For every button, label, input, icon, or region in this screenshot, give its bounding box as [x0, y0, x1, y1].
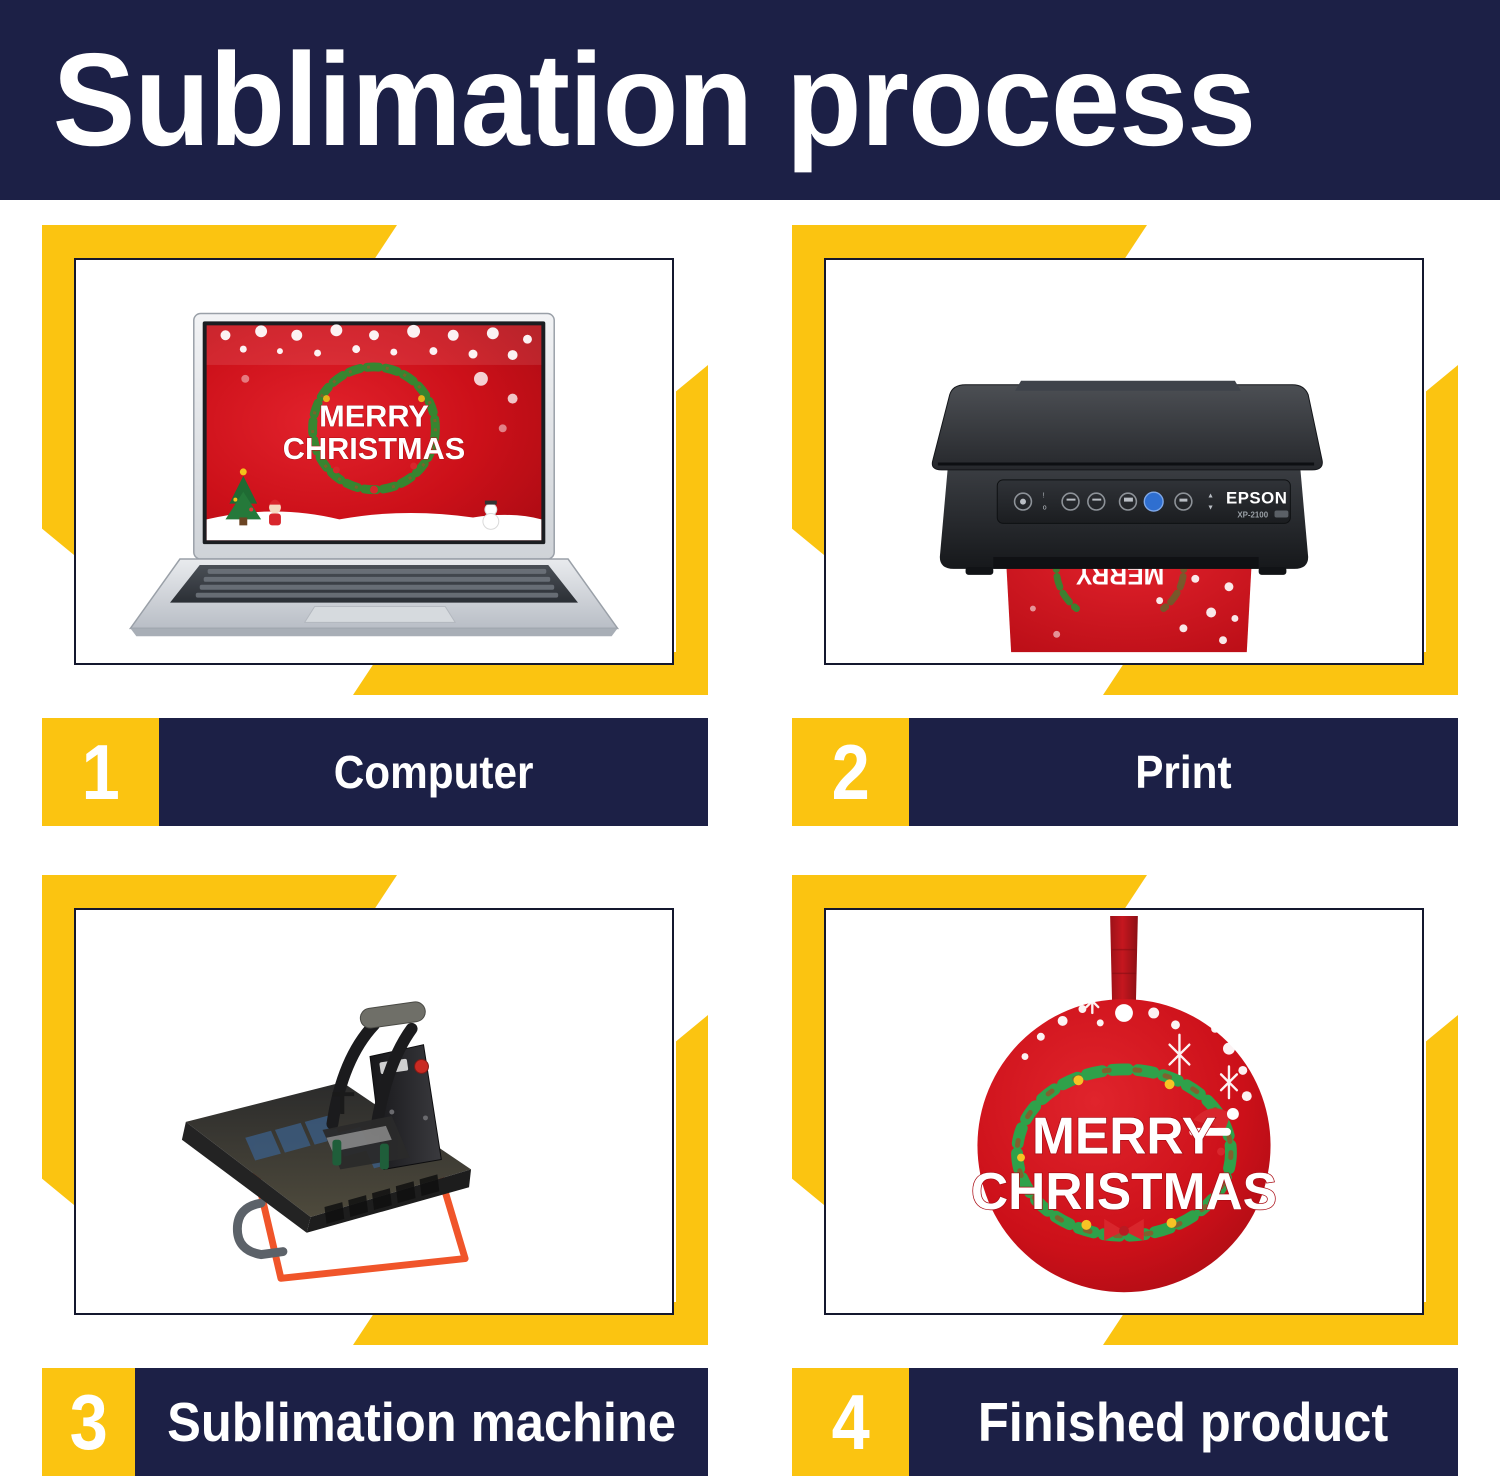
step-number-badge-1: 1 — [42, 718, 159, 826]
step-label-4: Finished product — [909, 1368, 1458, 1476]
corner-accent-top-left-vertical — [792, 875, 824, 1205]
photo-frame-1: MERRY CHRISTMAS — [42, 225, 708, 695]
photo-frame-4: MERRY CHRISTMAS — [792, 875, 1458, 1345]
step-number-badge-2: 2 — [792, 718, 909, 826]
corner-accent-top-left-vertical — [42, 875, 74, 1205]
step-image-printer: MERRY CHRISTMAS — [824, 258, 1424, 665]
step-label-3: Sublimation machine — [135, 1368, 708, 1476]
step-number-badge-4: 4 — [792, 1368, 909, 1476]
corner-accent-bottom-right-vertical — [1426, 365, 1458, 695]
infographic-page: Sublimation process — [0, 0, 1500, 1478]
steps-grid: MERRY CHRISTMAS — [0, 200, 1500, 1478]
step-image-ornament: MERRY CHRISTMAS — [824, 908, 1424, 1315]
corner-accent-bottom-right-vertical — [1426, 1015, 1458, 1345]
laptop-illustration: MERRY CHRISTMAS — [76, 260, 672, 663]
step-label-2: Print — [909, 718, 1458, 826]
svg-text:o: o — [1043, 505, 1047, 512]
step-image-heat-press — [74, 908, 674, 1315]
corner-accent-top-left-vertical — [792, 225, 824, 555]
ornament-text-line2: CHRISTMAS — [971, 1162, 1277, 1220]
step-image-laptop: MERRY CHRISTMAS — [74, 258, 674, 665]
step-number-badge-3: 3 — [42, 1368, 135, 1476]
photo-frame-3 — [42, 875, 708, 1345]
corner-accent-bottom-right-vertical — [676, 1015, 708, 1345]
svg-text:▲: ▲ — [1207, 493, 1214, 500]
step-label-bar-4: 4 Finished product — [792, 1368, 1458, 1476]
page-title: Sublimation process — [0, 34, 1255, 166]
ornament-text-line1: MERRY — [1032, 1107, 1216, 1165]
ribbon — [1110, 916, 1138, 1005]
step-label-1: Computer — [159, 718, 708, 826]
printer-model-text: XP-2100 — [1237, 510, 1268, 519]
step-card-3: 3 Sublimation machine — [42, 875, 708, 1345]
svg-text:▼: ▼ — [1207, 505, 1214, 512]
svg-text:CHRISTMAS: CHRISTMAS — [283, 431, 465, 466]
step-label-bar-1: 1 Computer — [42, 718, 708, 826]
corner-accent-top-left-vertical — [42, 225, 74, 555]
svg-text:MERRY: MERRY — [319, 398, 429, 433]
step-card-4: MERRY CHRISTMAS 4 Finished product — [792, 875, 1458, 1345]
step-card-1: MERRY CHRISTMAS — [42, 225, 708, 695]
step-label-bar-2: 2 Print — [792, 718, 1458, 826]
ornament-illustration: MERRY CHRISTMAS — [826, 910, 1422, 1313]
heat-press-illustration — [76, 910, 672, 1313]
step-label-bar-3: 3 Sublimation machine — [42, 1368, 708, 1476]
printer-brand-text: EPSON — [1226, 489, 1287, 508]
printer-illustration: MERRY CHRISTMAS — [826, 260, 1422, 663]
svg-text:!: ! — [1043, 493, 1045, 500]
step-card-2: MERRY CHRISTMAS — [792, 225, 1458, 695]
corner-accent-bottom-right-vertical — [676, 365, 708, 695]
photo-frame-2: MERRY CHRISTMAS — [792, 225, 1458, 695]
header-banner: Sublimation process — [0, 0, 1500, 200]
